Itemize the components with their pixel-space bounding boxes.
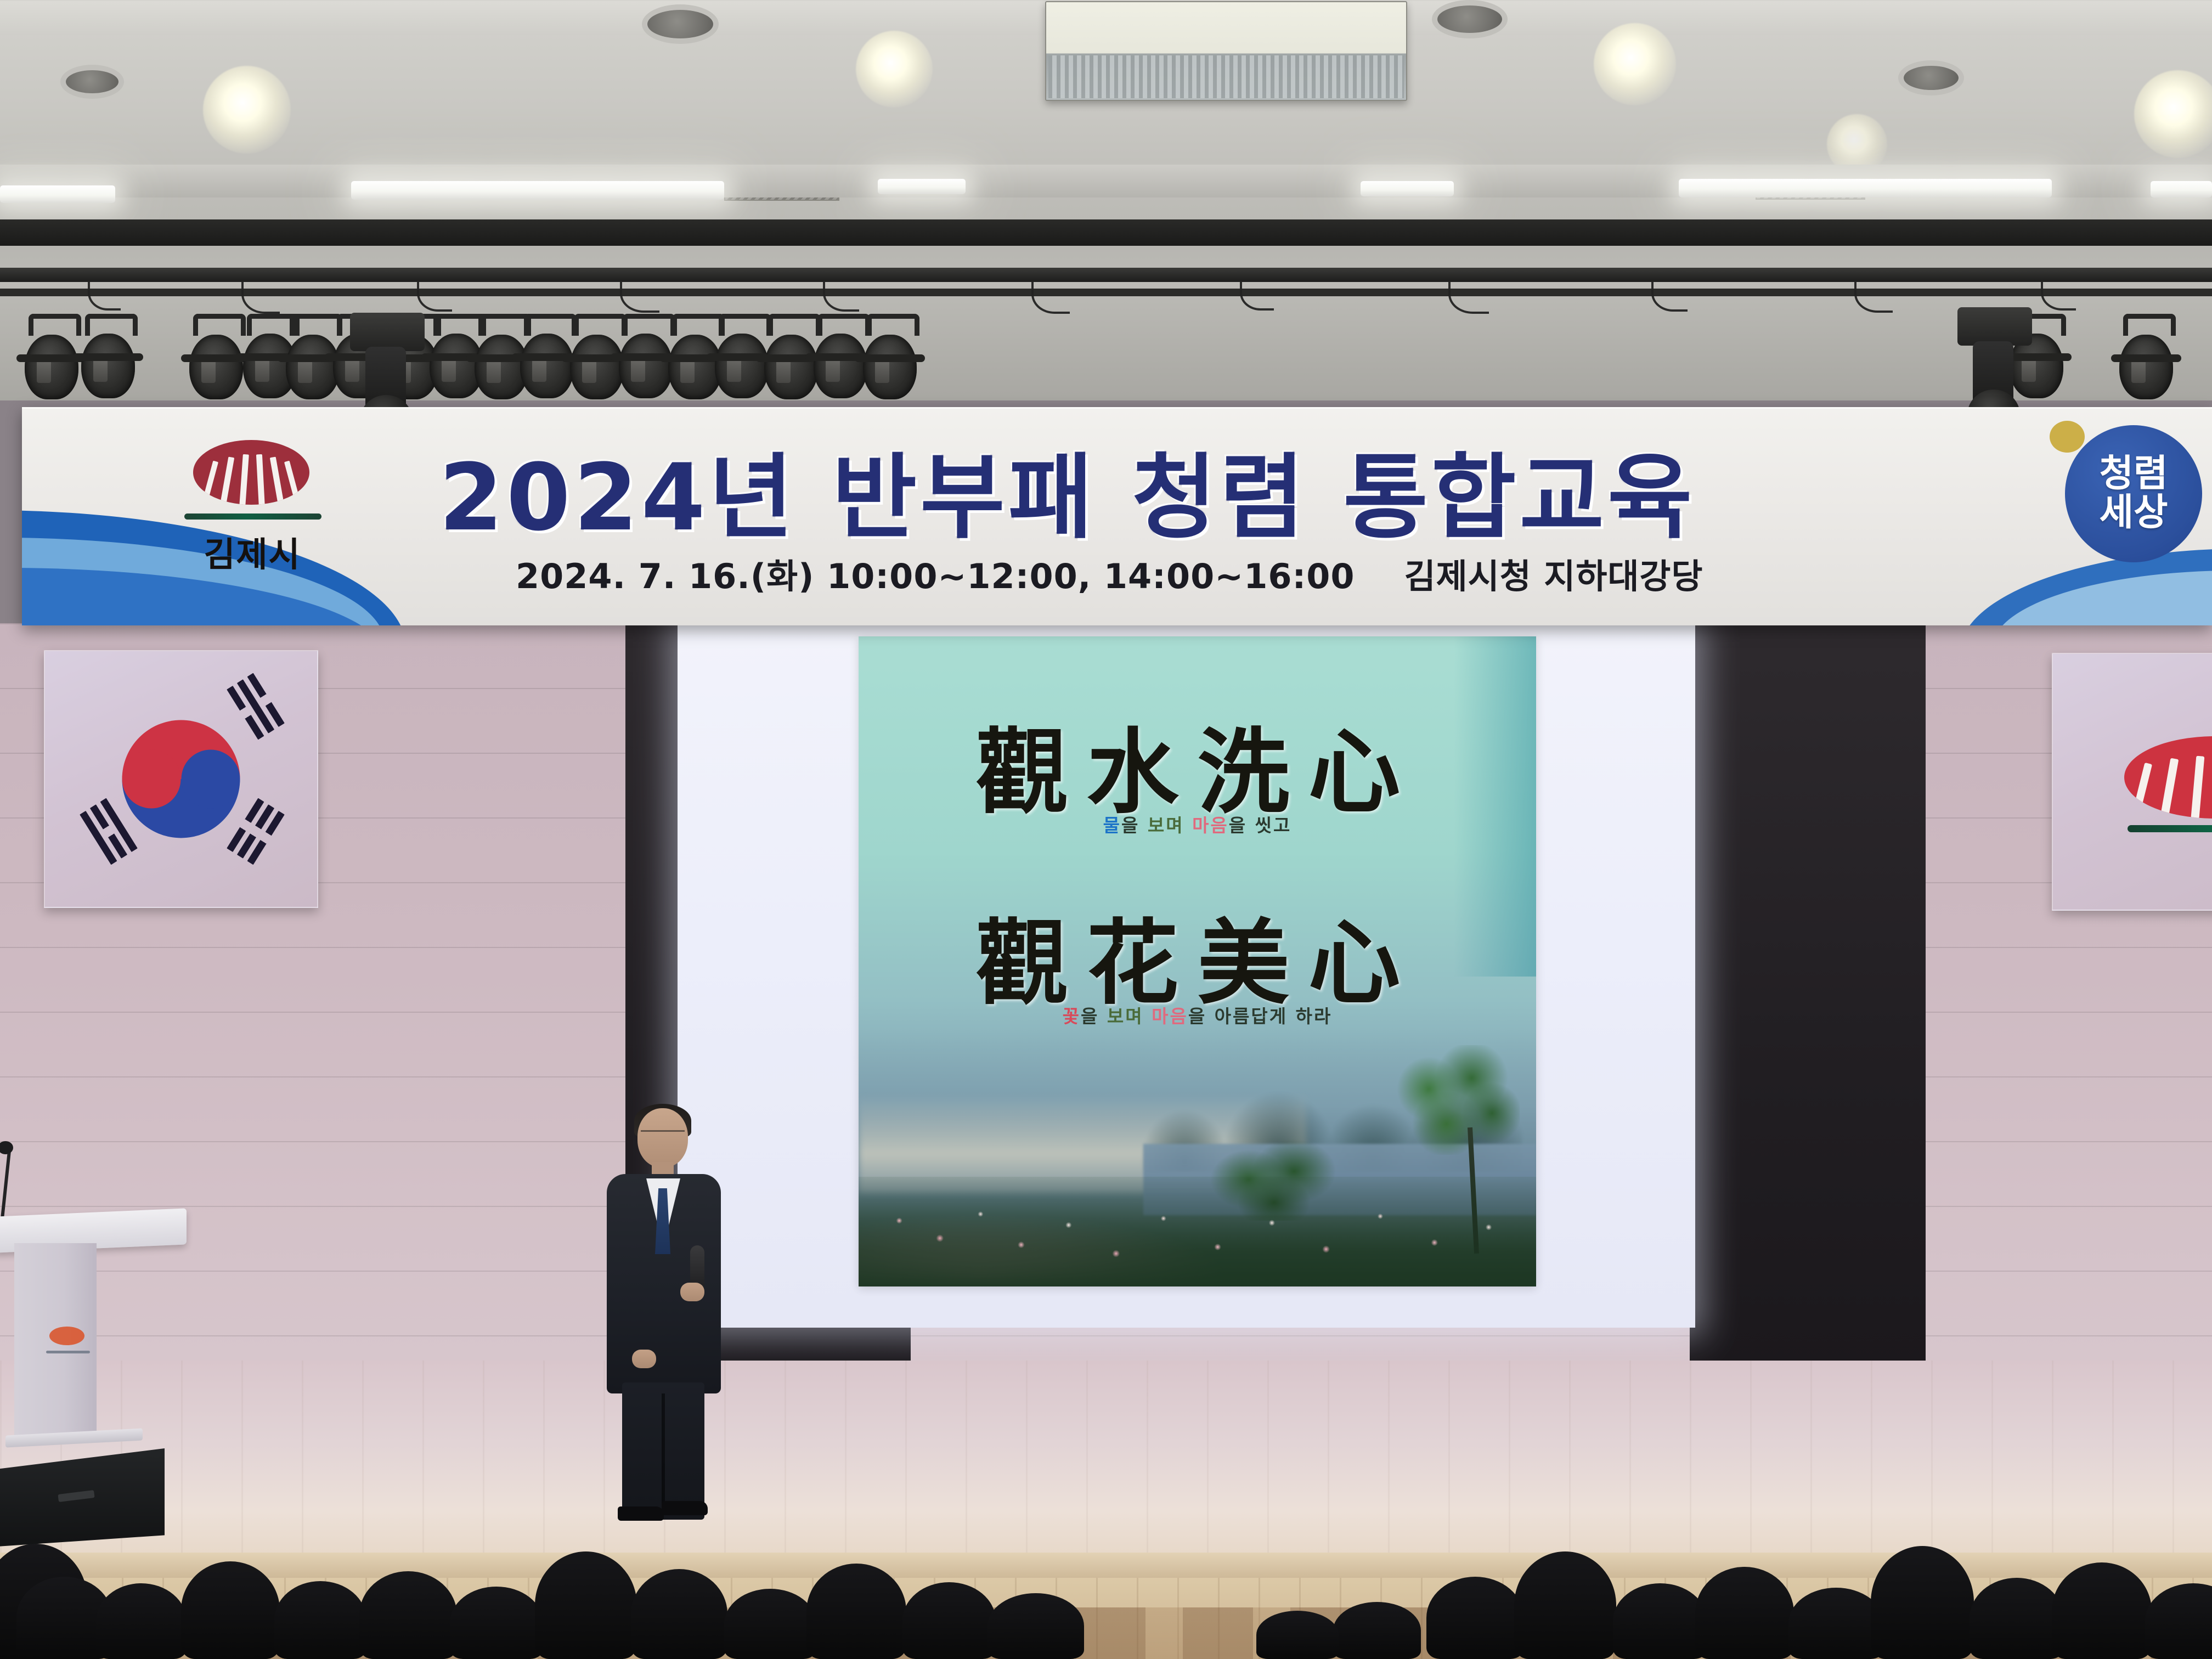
banner-title: 2024년 반부패 청렴 통합교육 <box>439 429 1991 550</box>
presenter-hand-left <box>632 1350 656 1368</box>
truss-shadow-band <box>0 219 2212 246</box>
integrity-badge-line1: 청렴 <box>2099 455 2168 494</box>
cable <box>241 281 280 314</box>
stage-par-light <box>619 334 673 398</box>
stage-par-light <box>25 335 78 399</box>
gimje-symbol-icon <box>2124 736 2212 819</box>
audience-head <box>450 1587 543 1659</box>
gimje-ellipse-icon <box>193 440 309 505</box>
ceiling-downlight-icon <box>203 66 291 154</box>
audience-head <box>1871 1546 1974 1659</box>
integrity-badge: 청렴 세상 <box>2065 425 2202 562</box>
fluorescent-tube-light <box>1361 181 1454 196</box>
cable <box>823 281 859 312</box>
trigram-gon-icon <box>227 798 285 865</box>
audience-head <box>806 1564 906 1659</box>
audience: silhouetted heads of seated attendees <box>0 1503 2212 1659</box>
trigram-gam-icon <box>227 673 285 740</box>
banner-subtitle: 2024. 7. 16.(화) 10:00~12:00, 14:00~16:00… <box>516 549 1997 598</box>
stage-par-light <box>668 335 722 399</box>
audience-head <box>1256 1611 1339 1659</box>
gimje-symbol-line <box>2128 825 2212 832</box>
stage-par-light <box>520 334 574 398</box>
slide-landscape-painting <box>859 1029 1536 1286</box>
audience-head <box>724 1589 816 1659</box>
stage-par-light <box>764 335 818 399</box>
presentation-slide: 觀水洗心 물을 보며 마음을 씻고 觀花美心 꽃을 보며 마음을 아름답게 하라… <box>859 636 1536 1286</box>
cable <box>1854 281 1893 313</box>
ceiling-speaker-icon <box>66 70 119 93</box>
audience-head <box>96 1583 187 1659</box>
slide-korean-2-bomyeo: 보며 <box>1107 1006 1152 1027</box>
ceiling <box>0 0 2212 236</box>
painting-flower-meadow <box>859 1177 1536 1286</box>
audience-head <box>359 1571 457 1659</box>
gimje-logo-text: 김제시 <box>165 527 340 576</box>
cable <box>1031 281 1070 314</box>
truss-bar <box>0 268 2212 282</box>
podium-logo-icon <box>49 1327 84 1345</box>
ceiling-downlight-icon <box>856 31 933 108</box>
cable <box>620 281 659 313</box>
fluorescent-tube-light <box>351 181 724 200</box>
cable <box>88 281 121 311</box>
ceiling-air-vent-icon <box>1045 1 1407 101</box>
audience-head <box>1613 1583 1707 1659</box>
audience-head <box>988 1593 1084 1659</box>
audience-head <box>631 1569 727 1659</box>
slide-korean-2-kkot: 꽃 <box>1063 1006 1081 1027</box>
cable <box>1240 281 1274 311</box>
projection-screen: 觀水洗心 물을 보며 마음을 씻고 觀花美心 꽃을 보며 마음을 아름답게 하라… <box>678 625 1695 1328</box>
glasses-icon <box>641 1130 685 1139</box>
cable <box>1448 281 1489 314</box>
stage-par-light <box>286 335 340 399</box>
fluorescent-tube-light <box>1679 179 2052 198</box>
stage-par-light <box>189 335 243 399</box>
audience-head <box>535 1551 637 1659</box>
stage-par-light <box>863 335 917 399</box>
fluorescent-tube-light <box>878 179 966 194</box>
gimje-logo-underline <box>184 513 321 520</box>
audience-head <box>1426 1577 1524 1659</box>
stage-par-light <box>2119 335 2173 399</box>
cable <box>2041 281 2076 311</box>
audience-head <box>1695 1567 1794 1659</box>
audience-head <box>1514 1551 1616 1659</box>
audience-head <box>1333 1602 1421 1659</box>
podium-logo-line <box>46 1351 90 1353</box>
slide-korean-2-maeum: 마음 <box>1152 1006 1188 1027</box>
banner-subtitle-place: 김제시청 지하대강당 <box>1404 549 1703 598</box>
stage-par-light <box>81 334 135 398</box>
presenter: 강사 <box>598 1108 735 1514</box>
slide-korean-1-eul: 을 <box>1121 815 1148 836</box>
slide-korean-2-eul: 을 <box>1081 1006 1107 1027</box>
slide-korean-line-1: 물을 보며 마음을 씻고 <box>859 811 1536 837</box>
cable <box>417 281 452 312</box>
ceiling-downlight-icon <box>1594 23 1676 105</box>
auditorium-photo: 태극기 김제시 심볼 觀水洗心 물을 보며 마음을 씻고 觀花美心 꽃을 보며 … <box>0 0 2212 1659</box>
audience-head <box>1788 1588 1884 1659</box>
slide-korean-1-maeum: 마음 <box>1192 815 1229 836</box>
podium-body <box>14 1243 97 1441</box>
integrity-badge-line2: 세상 <box>2099 494 2168 533</box>
slide-korean-line-2: 꽃을 보며 마음을 아름답게 하라 <box>859 1002 1536 1028</box>
city-logo-panel: 김제시 심볼 <box>2052 653 2212 911</box>
presenter-hand-right <box>680 1283 704 1301</box>
trigram-ri-icon <box>80 798 138 865</box>
korean-flag-panel: 태극기 <box>44 650 318 908</box>
ceiling-speaker-icon <box>1437 5 1502 33</box>
ceiling-speaker-icon <box>647 10 713 38</box>
banner-sun-icon <box>2050 421 2085 453</box>
audience-head <box>2145 1583 2212 1659</box>
banner-subtitle-date: 2024. 7. 16.(화) 10:00~12:00, 14:00~16:00 <box>516 549 1355 598</box>
slide-korean-2-tail: 을 아름답게 하라 <box>1188 1006 1333 1027</box>
stage-par-light <box>715 334 769 398</box>
taeguk-icon <box>122 720 240 838</box>
lighting-truss-zone <box>0 219 2212 400</box>
slide-korean-1-mul: 물 <box>1103 815 1121 836</box>
audience-head <box>181 1561 280 1659</box>
ceiling-downlight-icon <box>2134 70 2212 158</box>
painting-tree-canopy <box>1393 1045 1520 1155</box>
audience-head <box>2052 1562 2152 1659</box>
audience-head <box>902 1582 996 1659</box>
fluorescent-tube-light <box>0 185 115 203</box>
presenter-trousers <box>622 1383 704 1520</box>
stage-wing-right <box>1690 623 1926 1369</box>
stage-par-light <box>570 335 624 399</box>
trigram-geon-icon <box>66 698 92 714</box>
slide-korean-1-bomyeo: 보며 <box>1148 815 1192 836</box>
ceiling-speaker-icon <box>1904 66 1959 90</box>
fluorescent-tube-light <box>2151 181 2212 198</box>
audience-head <box>1970 1578 2064 1659</box>
slide-korean-1-tail: 을 씻고 <box>1229 815 1292 836</box>
stage-par-light <box>814 334 867 398</box>
cable <box>1651 281 1688 312</box>
gimje-city-logo: 김제시 <box>165 433 346 598</box>
audience-head <box>274 1581 366 1659</box>
